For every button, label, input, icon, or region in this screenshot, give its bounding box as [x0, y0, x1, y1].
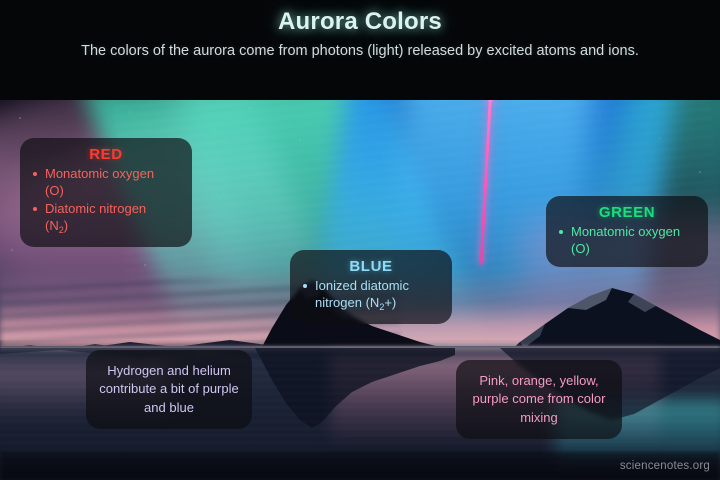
page-subtitle: The colors of the aurora come from photo…	[80, 41, 640, 62]
callout-list-blue: Ionized diatomic nitrogen (N2+)	[302, 277, 440, 314]
foreground-shore	[0, 452, 720, 480]
list-item-text: Ionized diatomic	[315, 278, 409, 293]
formula-post: +)	[384, 295, 396, 310]
list-item-text: Monatomic oxygen	[45, 166, 154, 181]
formula-post: )	[64, 218, 68, 233]
callout-list-red: Monatomic oxygen (O) Diatomic nitrogen (…	[32, 165, 180, 237]
source-watermark: sciencenotes.org	[620, 460, 710, 472]
header-banner: Aurora Colors The colors of the aurora c…	[0, 0, 720, 100]
callout-card-red[interactable]: RED Monatomic oxygen (O) Diatomic nitrog…	[20, 138, 192, 247]
list-item: Monatomic oxygen (O)	[32, 165, 180, 199]
formula-pre: (N	[45, 218, 59, 233]
list-item: Monatomic oxygen (O)	[558, 223, 696, 257]
list-item-formula: nitrogen (N2+)	[315, 294, 440, 314]
callout-card-green[interactable]: GREEN Monatomic oxygen (O)	[546, 196, 708, 267]
list-item-formula: (O)	[45, 182, 180, 199]
page-title: Aurora Colors	[278, 8, 442, 36]
callout-card-hydrogen-helium[interactable]: Hydrogen and helium contribute a bit of …	[86, 350, 252, 429]
list-item-text: Monatomic oxygen	[571, 224, 680, 239]
callout-heading-blue: BLUE	[302, 258, 440, 275]
list-item: Diatomic nitrogen (N2)	[32, 200, 180, 237]
list-item-formula: (N2)	[45, 217, 180, 237]
list-item: Ionized diatomic nitrogen (N2+)	[302, 277, 440, 314]
callout-heading-red: RED	[32, 146, 180, 163]
formula-pre: nitrogen (N	[315, 295, 379, 310]
callout-card-color-mixing[interactable]: Pink, orange, yellow, purple come from c…	[456, 360, 622, 439]
list-item-formula: (O)	[571, 240, 696, 257]
callout-heading-green: GREEN	[558, 204, 696, 221]
list-item-text: Diatomic nitrogen	[45, 201, 146, 216]
callout-card-blue[interactable]: BLUE Ionized diatomic nitrogen (N2+)	[290, 250, 452, 324]
callout-list-green: Monatomic oxygen (O)	[558, 223, 696, 257]
